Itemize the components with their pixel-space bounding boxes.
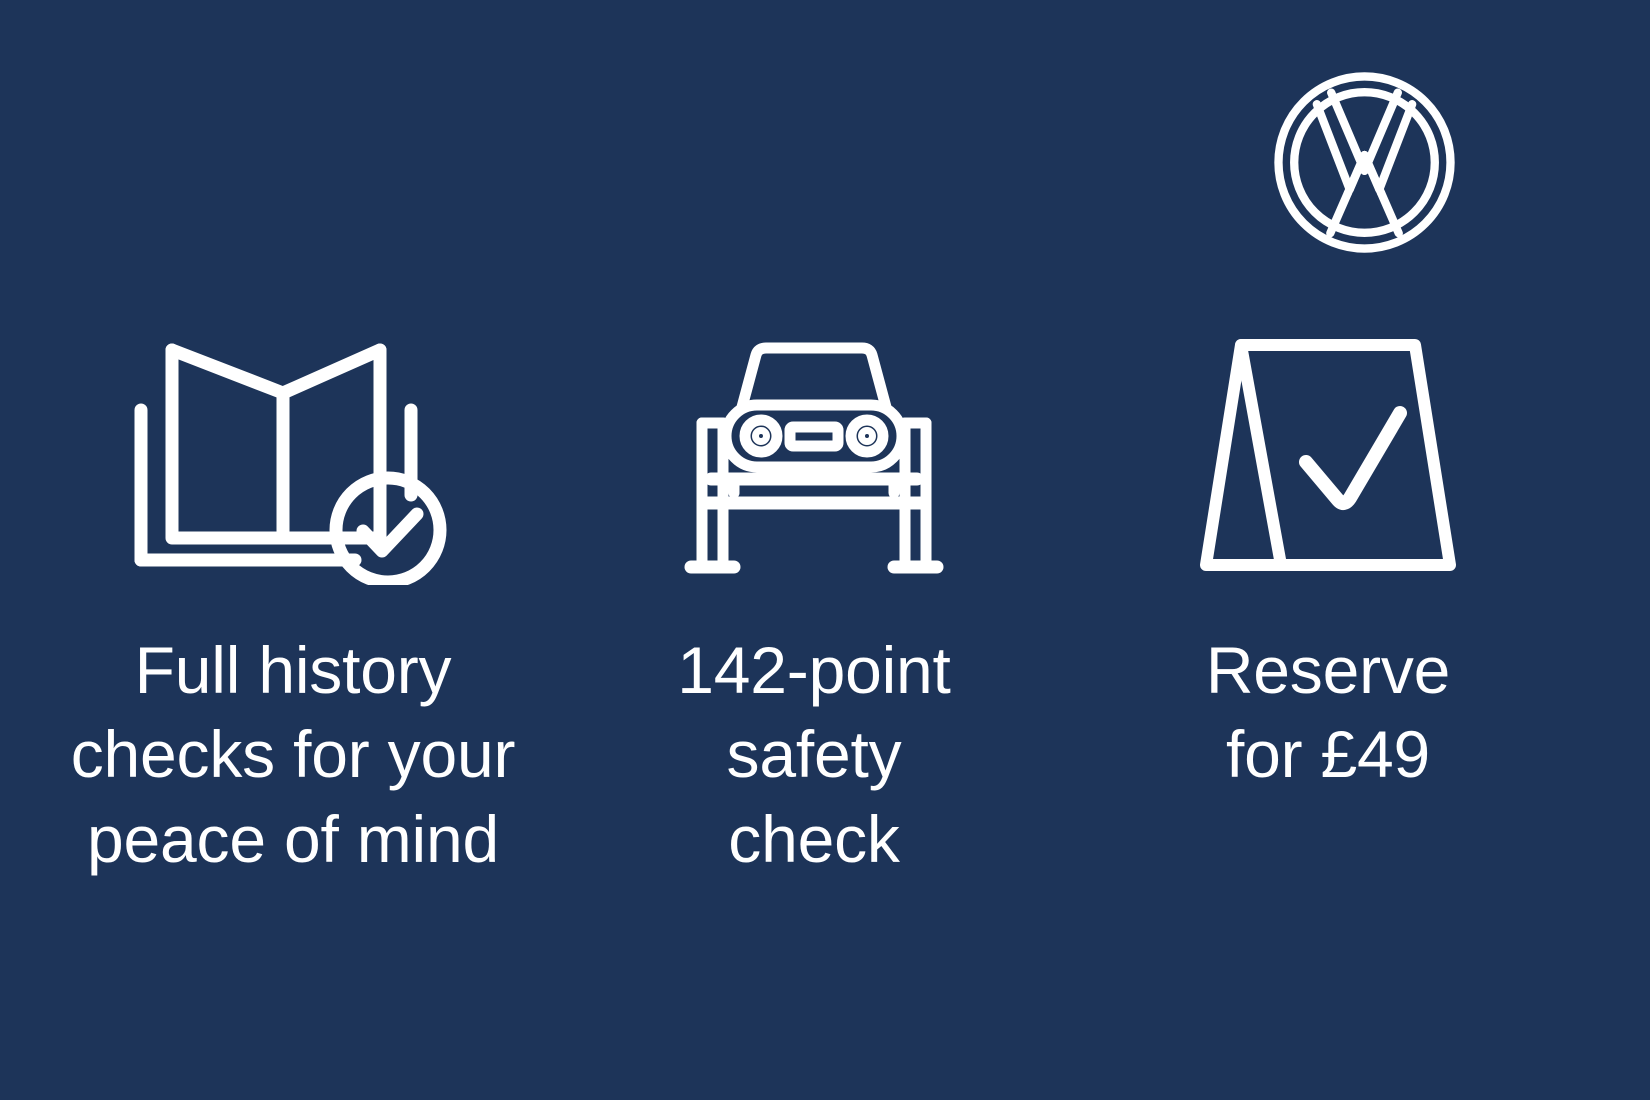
feature-row: Full history checks for your peace of mi… — [0, 320, 1650, 881]
feature-label-safety: 142-point safety check — [594, 628, 1034, 881]
volkswagen-logo — [1272, 70, 1457, 255]
open-book-check-icon — [123, 320, 463, 590]
feature-item-reserve: Reserve for £49 — [1048, 320, 1608, 797]
feature-label-reserve: Reserve for £49 — [1068, 628, 1588, 797]
feature-label-history: Full history checks for your peace of mi… — [13, 628, 573, 881]
feature-item-history: Full history checks for your peace of mi… — [0, 320, 580, 881]
car-on-lift-icon — [671, 320, 957, 590]
promo-banner: Full history checks for your peace of mi… — [0, 0, 1650, 1100]
feature-item-safety: 142-point safety check — [580, 320, 1048, 881]
tent-card-check-icon — [1178, 320, 1478, 590]
